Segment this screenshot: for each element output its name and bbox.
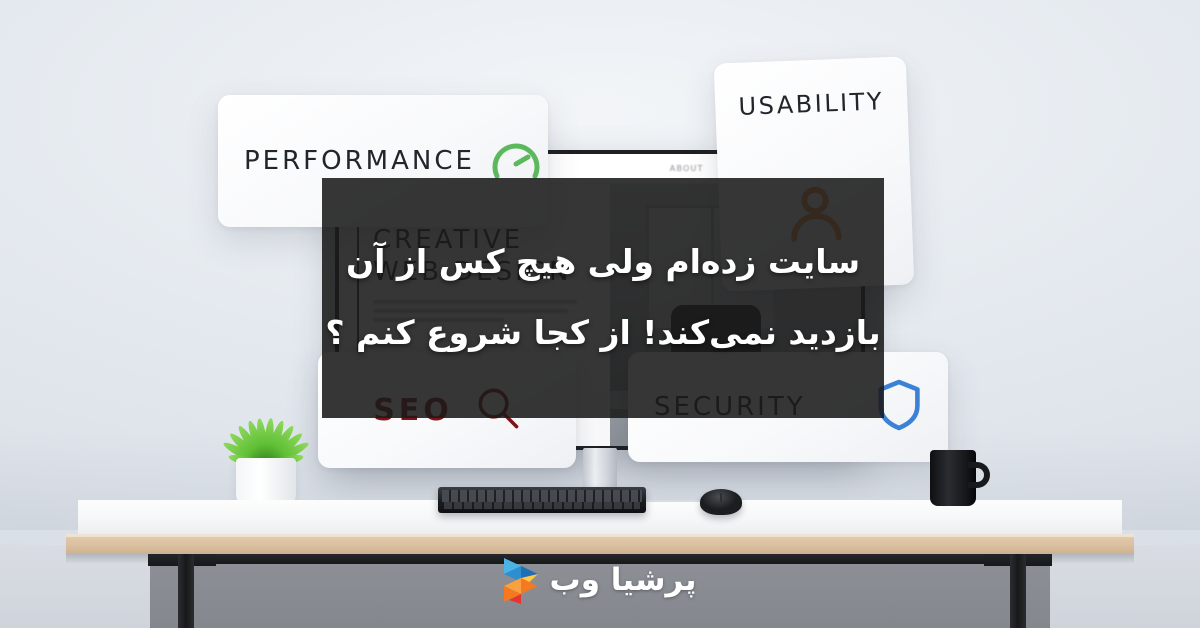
desk-edge	[66, 534, 1134, 554]
card-label-performance: PERFORMANCE	[244, 146, 475, 176]
mouse	[700, 489, 742, 515]
banner-scene: ABOUT SERVICES BLOG WE ARE CREATIVE WEB …	[0, 0, 1200, 628]
keyboard	[438, 487, 646, 513]
potted-plant	[208, 392, 324, 510]
headline-line-1: سایت زده‌ام ولی هیچ کس از آن	[346, 240, 860, 285]
monitor-nav-item-0: ABOUT	[670, 164, 704, 173]
mug-handle	[968, 462, 990, 488]
persia-web-logo-mark-icon	[504, 556, 538, 604]
desk-cable	[646, 500, 704, 502]
keyboard-keys-row-top	[442, 490, 642, 502]
coffee-mug	[930, 450, 990, 506]
keyboard-keys-row-bottom	[444, 502, 640, 509]
headline-overlay: سایت زده‌ام ولی هیچ کس از آن بازدید نمی‌…	[322, 178, 884, 418]
headline-line-2: بازدید نمی‌کند! از کجا شروع کنم ؟	[325, 311, 880, 356]
brand-logo: پرشیا وب	[0, 556, 1200, 604]
brand-name: پرشیا وب	[550, 562, 697, 598]
card-label-usability: USABILITY	[738, 87, 884, 121]
